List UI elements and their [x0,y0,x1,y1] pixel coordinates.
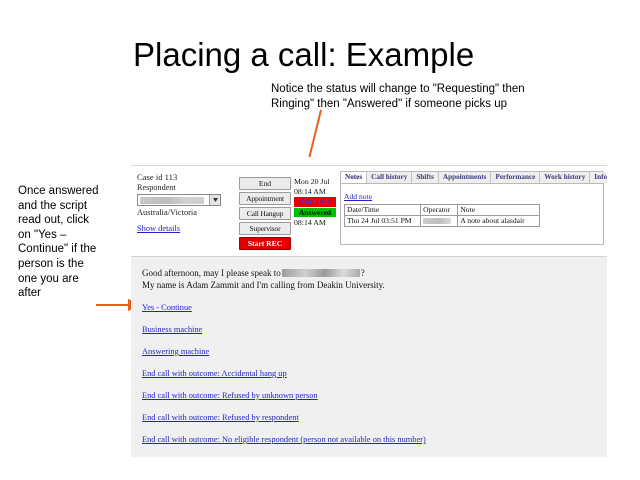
end-button[interactable]: End [239,177,291,190]
script-line-1-after: ? [361,268,365,278]
show-details-link[interactable]: Show details [137,224,180,234]
callout-left-line-7: one you are [18,272,130,287]
column-header-datetime: Date/Time [345,205,421,216]
call-hangup-button[interactable]: Call Hangup [239,207,291,220]
cell-note: A note about alasdair [458,216,540,227]
status-time-top: 08:14 AM [294,187,336,197]
tab-shifts[interactable]: Shifts [412,172,439,183]
notes-tab-panel: Add note Date/Time Operator Note Thu 24 … [341,184,603,227]
tab-call-history[interactable]: Call history [367,172,412,183]
page-title: Placing a call: Example [133,36,474,74]
script-line-2: My name is Adam Zammit and I'm calling f… [142,279,562,291]
supervisor-button[interactable]: Supervisor [239,222,291,235]
outcome-link-accidental-hangup[interactable]: End call with outcome: Accidental hang u… [142,369,287,379]
call-status-column: Mon 20 Jul 08:14 AM VoIP Off Answered 08… [294,177,336,228]
tab-strip: Notes Call history Shifts Appointments P… [341,172,603,184]
outcome-link-business-machine[interactable]: Business machine [142,325,202,335]
case-info-block: Case id 113 Respondent Australia/Victori… [137,172,233,236]
app-top-strip [131,157,607,166]
outcome-link-no-eligible-respondent[interactable]: End call with outcome: No eligible respo… [142,435,426,445]
outcome-link-answering-machine[interactable]: Answering machine [142,347,209,357]
operator-redacted-value [423,218,451,224]
start-rec-button[interactable]: Start REC [239,237,291,250]
tab-notes[interactable]: Notes [341,172,367,183]
outcome-link-refused-unknown-person[interactable]: End call with outcome: Refused by unknow… [142,391,318,401]
tab-info[interactable]: Info [590,172,607,183]
add-note-link[interactable]: Add note [344,192,372,201]
callout-left-line-4: on "Yes – [18,228,130,243]
callout-top-text: Notice the status will change to "Reques… [271,82,601,111]
respondent-redacted-value [140,197,204,204]
callout-left-line-5: Continue" if the [18,242,130,257]
tab-work-history[interactable]: Work history [540,172,590,183]
cell-operator [421,216,458,227]
app-script-panel: Good afternoon, may I please speak to? M… [131,256,607,457]
callout-left-line-6: person is the [18,257,130,272]
status-time-bottom: 08:14 AM [294,218,336,228]
script-line-1-before: Good afternoon, may I please speak to [142,268,281,278]
outcome-link-refused-by-respondent[interactable]: End call with outcome: Refused by respon… [142,413,299,423]
call-action-button-column: End Appointment Call Hangup Supervisor S… [239,177,291,252]
script-line-1: Good afternoon, may I please speak to? [142,267,562,279]
app-upper-panel: Case id 113 Respondent Australia/Victori… [131,166,607,248]
column-header-operator: Operator [421,205,458,216]
notes-table: Date/Time Operator Note Thu 24 Jul 03:51… [344,204,540,227]
callout-left-text: Once answered and the script read out, c… [18,184,130,301]
respondent-select[interactable] [137,194,221,206]
voip-status-badge: VoIP Off [294,197,336,207]
outcome-link-yes-continue[interactable]: Yes - Continue [142,303,192,313]
chevron-down-icon[interactable] [209,195,220,205]
embedded-app-screenshot: Case id 113 Respondent Australia/Victori… [131,157,607,457]
tab-performance[interactable]: Performance [491,172,540,183]
outcome-link-list: Yes - Continue Business machine Answerin… [142,303,572,457]
callout-top-line-1: Notice the status will change to "Reques… [271,82,601,97]
call-script-text: Good afternoon, may I please speak to? M… [142,267,562,291]
cell-datetime: Thu 24 Jul 03:51 PM [345,216,421,227]
case-timezone: Australia/Victoria [137,208,233,218]
callout-left-line-1: Once answered [18,184,130,199]
respondent-label: Respondent [137,183,233,193]
tabbed-right-panel: Notes Call history Shifts Appointments P… [340,171,604,245]
table-header-row: Date/Time Operator Note [345,205,540,216]
appointment-button[interactable]: Appointment [239,192,291,205]
status-date: Mon 20 Jul [294,177,336,187]
callout-left-line-3: read out, click [18,213,130,228]
respondent-name-redacted [282,269,360,277]
column-header-note: Note [458,205,540,216]
call-status-badge: Answered [294,208,336,218]
case-id-label: Case id 113 [137,172,233,182]
table-row[interactable]: Thu 24 Jul 03:51 PM A note about alasdai… [345,216,540,227]
tab-appointments[interactable]: Appointments [439,172,492,183]
callout-left-line-2: and the script [18,199,130,214]
